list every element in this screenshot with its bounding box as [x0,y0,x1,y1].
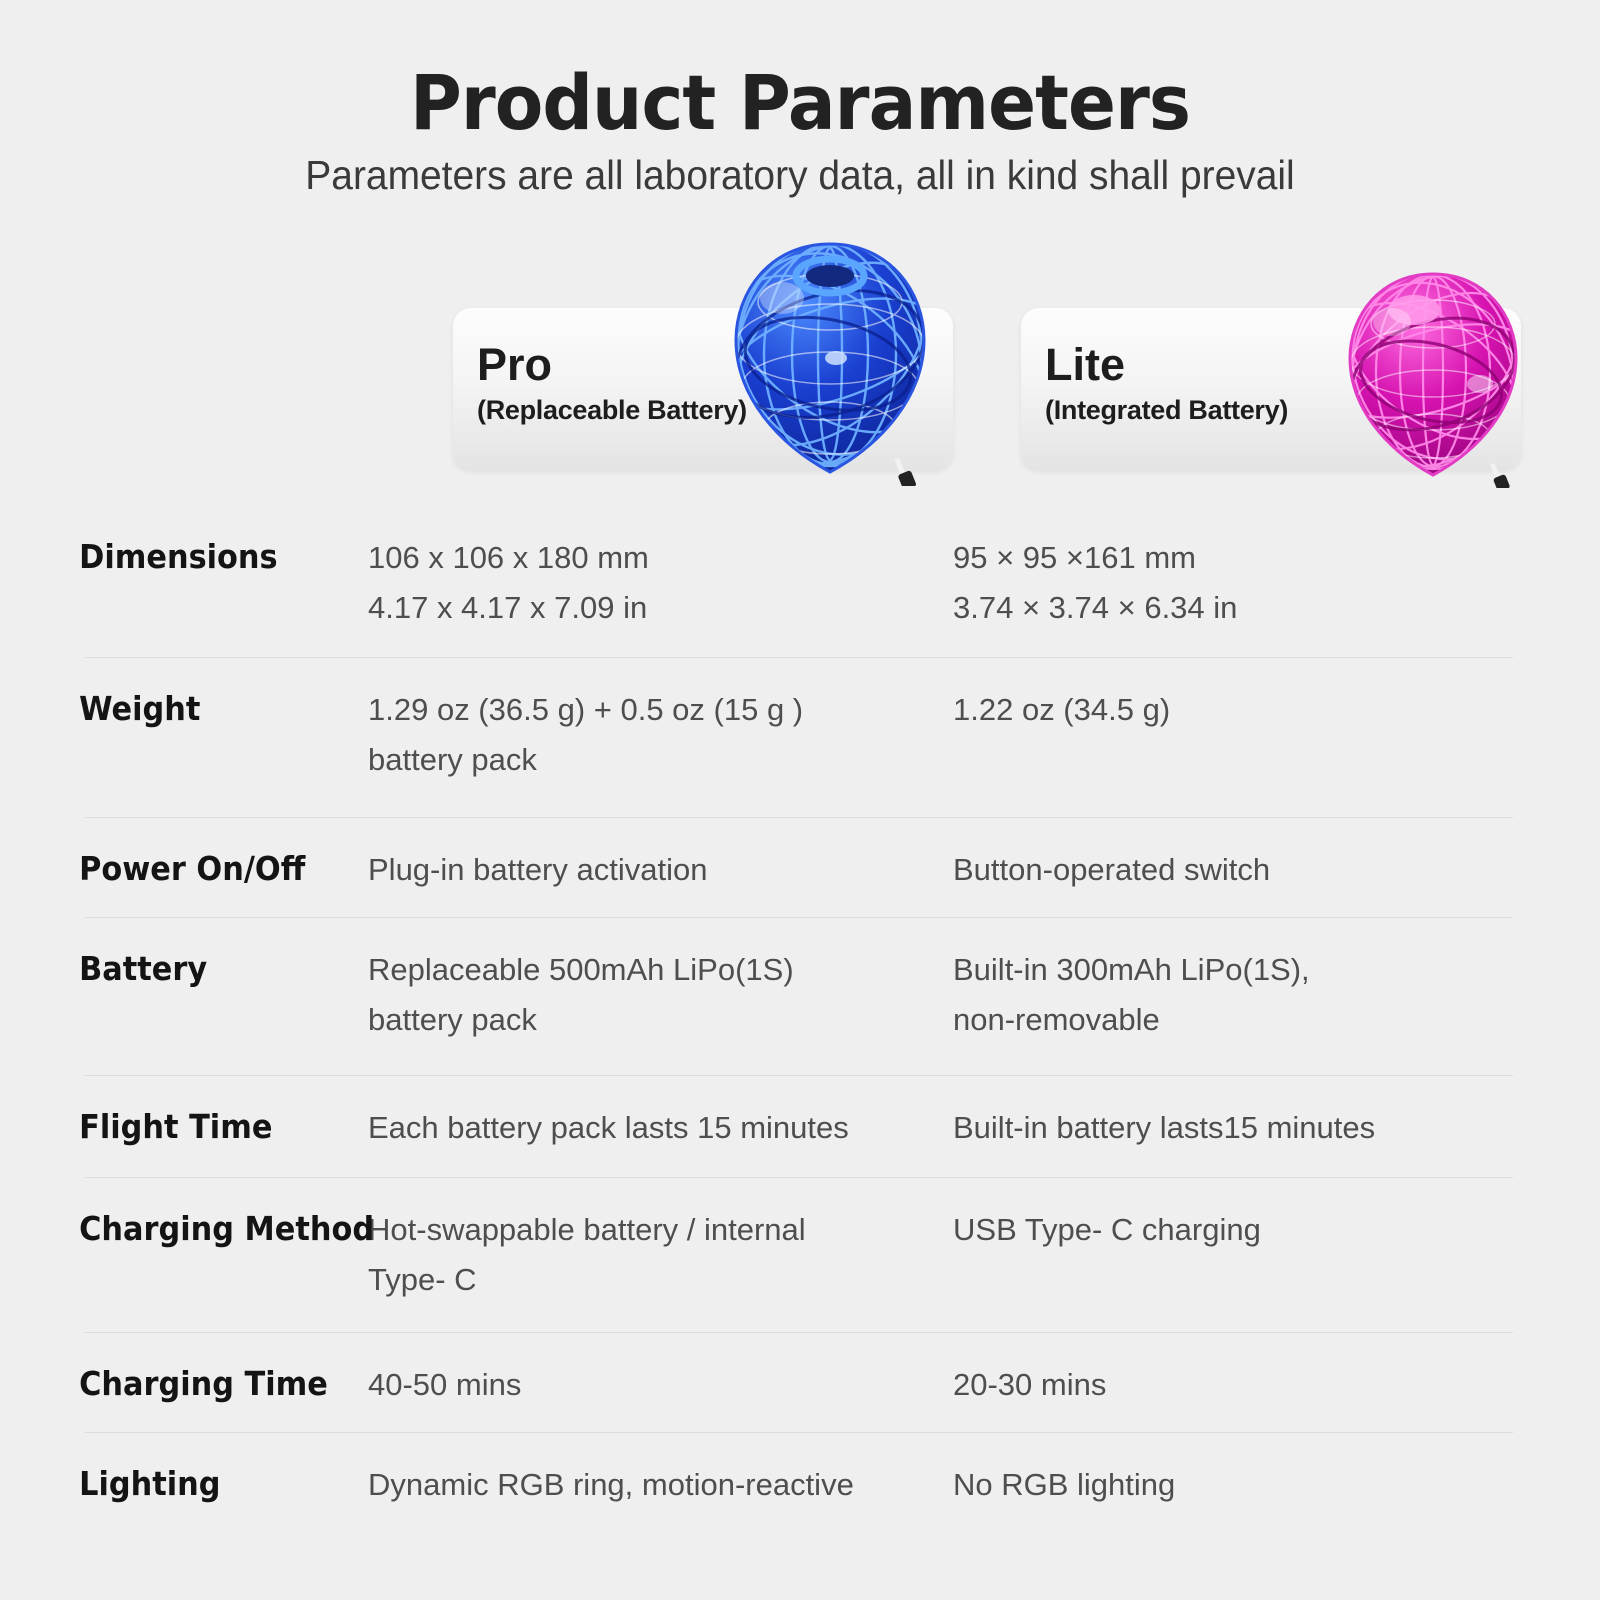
spec-value-lite-dimensions: 95 × 95 ×161 mm 3.74 × 3.74 × 6.34 in [953,533,1513,633]
spec-value-line2: non-removable [953,995,1513,1045]
spec-value-line2: battery pack [368,995,953,1045]
spec-value-lite-lighting: No RGB lighting [953,1460,1513,1510]
table-row: Flight Time Each battery pack lasts 15 m… [0,1075,1600,1177]
table-row: Charging Time 40-50 mins 20-30 mins [0,1332,1600,1432]
spec-label-flight-time: Flight Time [0,1103,339,1146]
spec-value-line1: Dynamic RGB ring, motion-reactive [368,1460,953,1510]
spec-value-line1: Replaceable 500mAh LiPo(1S) [368,945,953,995]
product-card-pro[interactable]: Pro (Replaceable Battery) [453,308,953,470]
spec-label-charging-method: Charging Method [0,1205,339,1248]
spec-value-pro-lighting: Dynamic RGB ring, motion-reactive [368,1460,953,1510]
spec-value-line2: 3.74 × 3.74 × 6.34 in [953,583,1513,633]
spec-label-dimensions: Dimensions [0,533,339,576]
product-name-lite: Lite [1045,342,1288,387]
product-subtitle-lite: (Integrated Battery) [1045,395,1288,426]
spec-value-lite-charging-time: 20-30 mins [953,1360,1513,1410]
spec-value-line1: USB Type- C charging [953,1205,1513,1255]
spec-value-line1: Hot-swappable battery / internal [368,1205,953,1255]
spec-value-lite-weight: 1.22 oz (34.5 g) [953,685,1513,735]
spec-value-line1: 40-50 mins [368,1360,953,1410]
table-row: Power On/Off Plug-in battery activation … [0,817,1600,917]
spec-value-line1: 1.29 oz (36.5 g) + 0.5 oz (15 g ) [368,685,953,735]
spec-value-lite-power-on-off: Button-operated switch [953,845,1513,895]
spec-label-weight: Weight [0,685,339,728]
spec-table: Dimensions 106 x 106 x 180 mm 4.17 x 4.1… [0,505,1600,1532]
spec-value-lite-charging-method: USB Type- C charging [953,1205,1513,1255]
spec-value-line1: 106 x 106 x 180 mm [368,533,953,583]
spec-value-pro-power-on-off: Plug-in battery activation [368,845,953,895]
spec-value-line1: Plug-in battery activation [368,845,953,895]
spec-value-line2: battery pack [368,735,953,785]
spec-value-line1: Button-operated switch [953,845,1513,895]
spec-value-line1: Built-in battery lasts15 minutes [953,1103,1513,1153]
spec-value-pro-flight-time: Each battery pack lasts 15 minutes [368,1103,953,1153]
product-parameters-page: Product Parameters Parameters are all la… [0,0,1600,1600]
product-subtitle-pro: (Replaceable Battery) [477,395,747,426]
page-title: Product Parameters [56,58,1544,147]
table-row: Dimensions 106 x 106 x 180 mm 4.17 x 4.1… [0,505,1600,657]
spec-label-charging-time: Charging Time [0,1360,339,1403]
spec-value-line2: 4.17 x 4.17 x 7.09 in [368,583,953,633]
product-name-pro: Pro [477,342,747,387]
spec-value-line1: Each battery pack lasts 15 minutes [368,1103,953,1153]
product-card-pro-text: Pro (Replaceable Battery) [477,342,747,426]
spec-label-lighting: Lighting [0,1460,339,1503]
spec-value-line1: 1.22 oz (34.5 g) [953,685,1513,735]
spec-label-power-on-off: Power On/Off [0,845,339,888]
spec-value-pro-weight: 1.29 oz (36.5 g) + 0.5 oz (15 g ) batter… [368,685,953,785]
spec-value-pro-charging-method: Hot-swappable battery / internal Type- C [368,1205,953,1305]
spec-value-pro-battery: Replaceable 500mAh LiPo(1S) battery pack [368,945,953,1045]
table-row: Charging Method Hot-swappable battery / … [0,1177,1600,1332]
page-subtitle: Parameters are all laboratory data, all … [40,152,1560,199]
spec-value-lite-battery: Built-in 300mAh LiPo(1S), non-removable [953,945,1513,1045]
spec-value-lite-flight-time: Built-in battery lasts15 minutes [953,1103,1513,1153]
table-row: Weight 1.29 oz (36.5 g) + 0.5 oz (15 g )… [0,657,1600,817]
spec-label-battery: Battery [0,945,339,988]
spec-value-line2: Type- C [368,1255,953,1305]
product-header-cards: Pro (Replaceable Battery) [0,308,1600,478]
table-row: Battery Replaceable 500mAh LiPo(1S) batt… [0,917,1600,1075]
spec-value-line1: No RGB lighting [953,1460,1513,1510]
table-row: Lighting Dynamic RGB ring, motion-reacti… [0,1432,1600,1532]
spec-value-pro-dimensions: 106 x 106 x 180 mm 4.17 x 4.17 x 7.09 in [368,533,953,633]
spec-value-line1: 95 × 95 ×161 mm [953,533,1513,583]
product-card-lite-text: Lite (Integrated Battery) [1045,342,1288,426]
product-card-lite[interactable]: Lite (Integrated Battery) [1021,308,1521,470]
spec-value-pro-charging-time: 40-50 mins [368,1360,953,1410]
spec-value-line1: Built-in 300mAh LiPo(1S), [953,945,1513,995]
spec-value-line1: 20-30 mins [953,1360,1513,1410]
